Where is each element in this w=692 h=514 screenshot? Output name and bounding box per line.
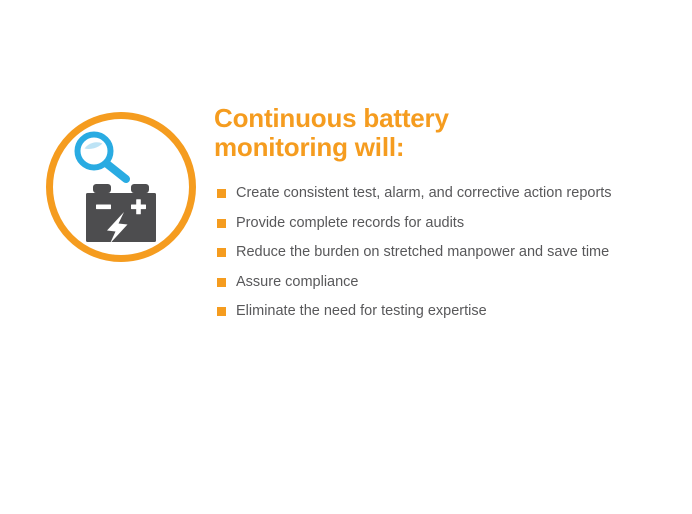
benefits-list: Create consistent test, alarm, and corre… (214, 184, 654, 321)
minus-sign (96, 205, 111, 210)
page-title: Continuous battery monitoring will: (214, 104, 654, 162)
list-item-label: Assure compliance (236, 273, 654, 292)
list-item: Create consistent test, alarm, and corre… (214, 184, 654, 203)
battery-terminals (93, 184, 149, 193)
list-item: Assure compliance (214, 273, 654, 292)
slide-canvas: Continuous battery monitoring will: Crea… (0, 0, 692, 514)
list-item-label: Create consistent test, alarm, and corre… (236, 184, 654, 203)
list-item: Eliminate the need for testing expertise (214, 302, 654, 321)
list-item-label: Provide complete records for audits (236, 214, 654, 233)
bullet-square-icon (217, 278, 226, 287)
bullet-square-icon (217, 307, 226, 316)
list-item: Provide complete records for audits (214, 214, 654, 233)
battery-magnifier-icon (46, 112, 196, 262)
magnifying-glass-icon (78, 135, 127, 180)
icon-artwork (46, 112, 196, 262)
bullet-square-icon (217, 248, 226, 257)
bullet-square-icon (217, 219, 226, 228)
list-item: Reduce the burden on stretched manpower … (214, 243, 654, 262)
headline-line-1: Continuous battery (214, 104, 654, 133)
headline-line-2: monitoring will: (214, 133, 654, 162)
bullet-square-icon (217, 189, 226, 198)
content-column: Continuous battery monitoring will: Crea… (214, 104, 654, 321)
list-item-label: Eliminate the need for testing expertise (236, 302, 654, 321)
list-item-label: Reduce the burden on stretched manpower … (236, 243, 654, 262)
